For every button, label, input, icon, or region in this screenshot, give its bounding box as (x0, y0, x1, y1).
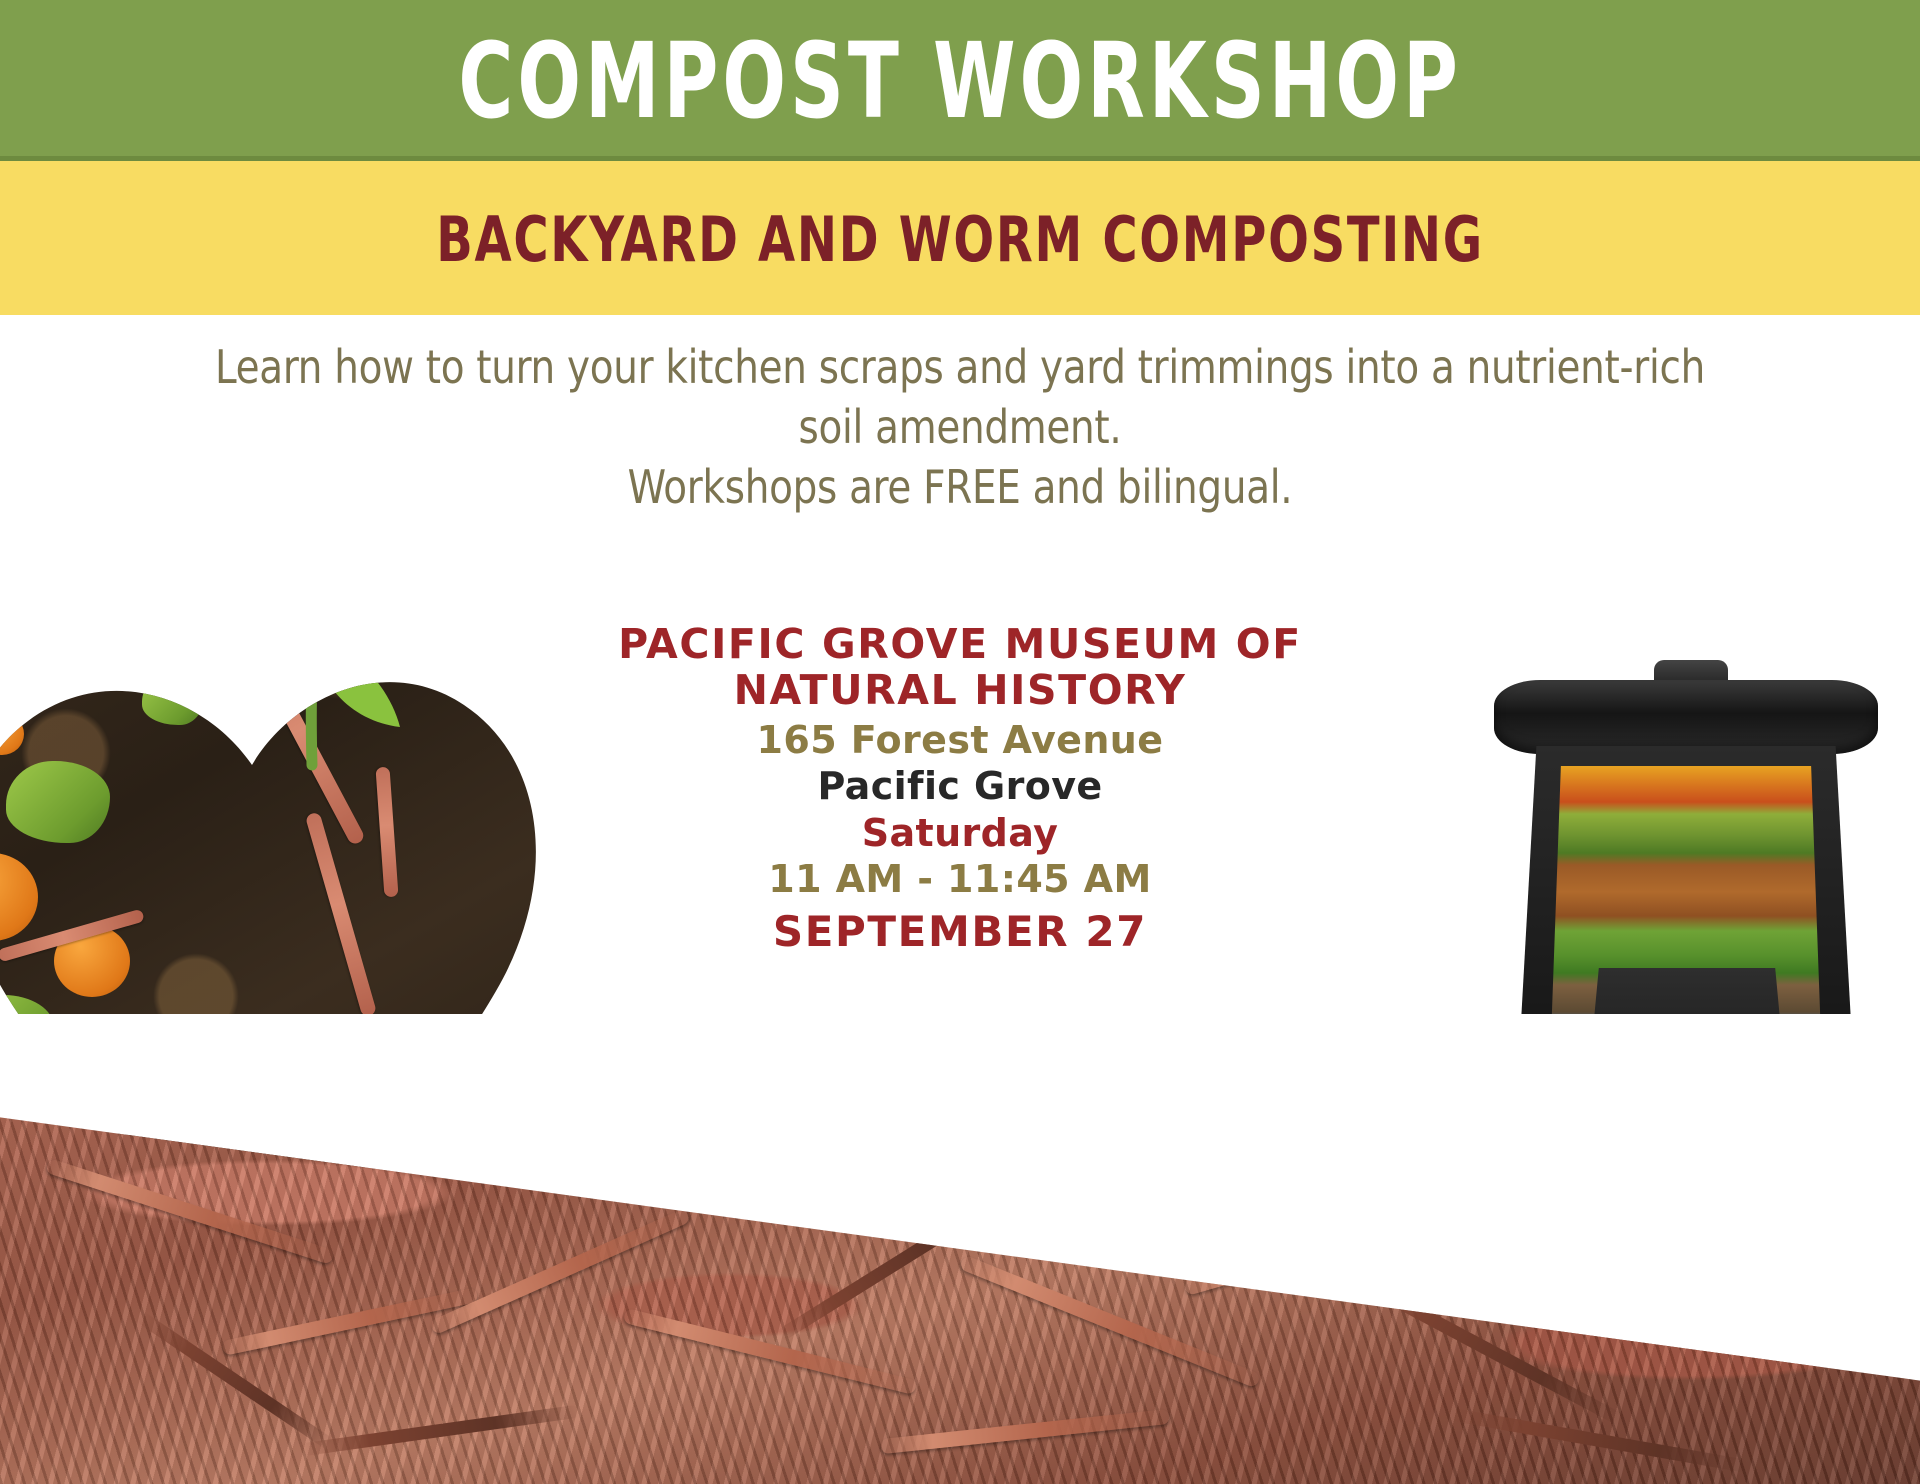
venue-city: Pacific Grove (580, 763, 1340, 809)
venue-name-line-2: NATURAL HISTORY (580, 668, 1340, 714)
earthworm (89, 583, 269, 674)
orange-scrap (0, 643, 8, 717)
seedling-sprout (112, 525, 532, 775)
bin-lid (1494, 680, 1878, 754)
event-details: PACIFIC GROVE MUSEUM OF NATURAL HISTORY … (580, 622, 1340, 959)
venue-name-line-1: PACIFIC GROVE MUSEUM OF (580, 622, 1340, 668)
intro-paragraph: Learn how to turn your kitchen scraps an… (0, 338, 1920, 517)
worm-strand (880, 1409, 1170, 1454)
intro-line-2: soil amendment. (58, 398, 1863, 458)
worm-strand (1451, 1408, 1749, 1473)
intro-line-1: Learn how to turn your kitchen scraps an… (58, 338, 1863, 398)
page-subtitle: BACKYARD AND WORM COMPOSTING (436, 205, 1484, 271)
venue-address: 165 Forest Avenue (580, 717, 1340, 763)
worm-strand (45, 1158, 335, 1265)
worm-strand (300, 1405, 579, 1457)
header-yellow-band: BACKYARD AND WORM COMPOSTING (0, 161, 1920, 315)
intro-line-3: Workshops are FREE and bilingual. (58, 458, 1863, 518)
header-green-band: COMPOST WORKSHOP (0, 0, 1920, 161)
event-day: Saturday (580, 810, 1340, 856)
leaf-scrap (6, 761, 110, 843)
worm-strand (623, 1308, 918, 1395)
event-date: SEPTEMBER 27 (580, 906, 1340, 959)
event-time: 11 AM - 11:45 AM (580, 856, 1340, 902)
page-title: COMPOST WORKSHOP (458, 29, 1461, 133)
